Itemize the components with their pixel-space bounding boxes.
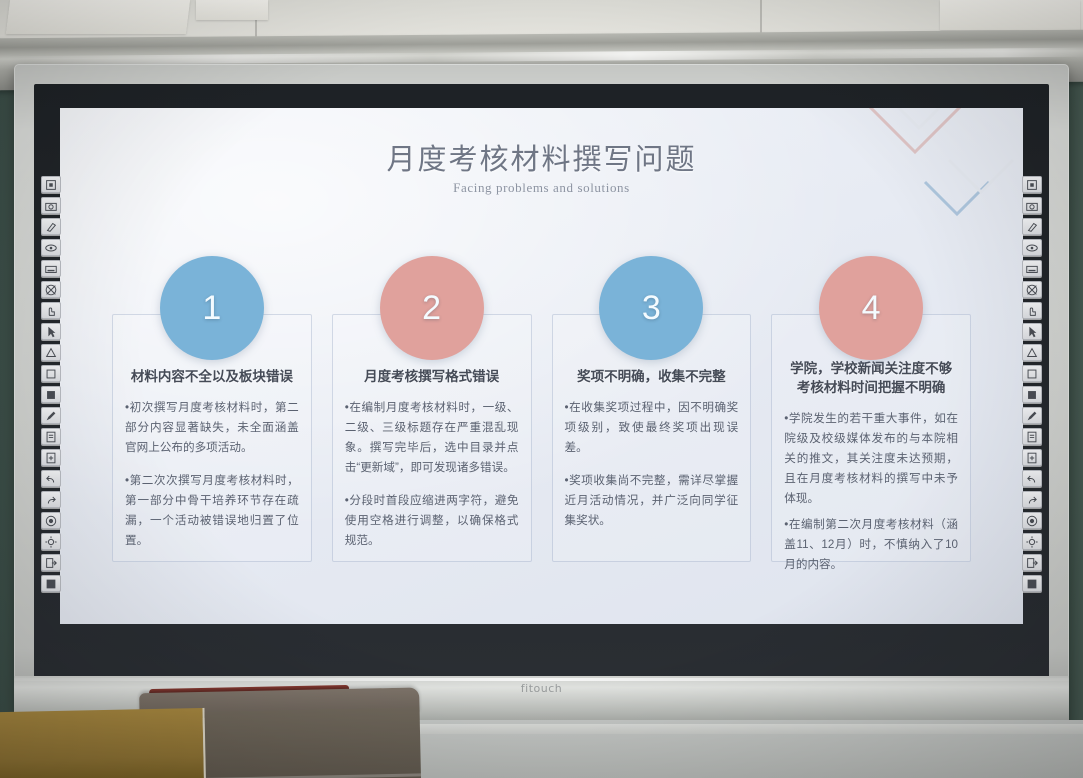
wooden-podium: [0, 682, 411, 778]
hand-pointer-icon[interactable]: [1022, 302, 1042, 319]
wall-paper-scrap: [940, 0, 1080, 30]
screenshot-icon[interactable]: [1022, 176, 1042, 193]
undo-icon[interactable]: [1022, 470, 1042, 487]
shape-square-icon[interactable]: [1022, 365, 1042, 382]
shape-fill-icon[interactable]: [41, 386, 61, 403]
camera-icon[interactable]: [1022, 197, 1042, 214]
podium-side-panel: [205, 707, 422, 778]
redo-icon[interactable]: [41, 491, 61, 508]
card-heading-1: 材料内容不全以及板块错误: [125, 367, 299, 386]
page-new-icon[interactable]: [41, 449, 61, 466]
pen-icon[interactable]: [1022, 407, 1042, 424]
bullet-item: •奖项收集尚不完整，需详尽掌握近月活动情况，并广泛向同学征集奖状。: [565, 471, 739, 531]
settings-icon[interactable]: [1022, 533, 1042, 550]
exit-icon[interactable]: [41, 554, 61, 571]
pen-icon[interactable]: [41, 407, 61, 424]
shape-triangle-icon[interactable]: [1022, 344, 1042, 361]
card-number-badge-1: 1: [160, 256, 264, 360]
classroom-scene: 月度考核材料撰写问题 Facing problems and solutions…: [0, 0, 1083, 778]
redo-icon[interactable]: [1022, 491, 1042, 508]
problem-card-3[interactable]: 3 奖项不明确，收集不完整 •在收集奖项过程中，因不明确奖项级别，致使最终奖项出…: [552, 256, 752, 562]
whiteboard-toolbar-right[interactable]: [1019, 172, 1045, 692]
record-icon[interactable]: [1022, 512, 1042, 529]
problem-card-1[interactable]: 1 材料内容不全以及板块错误 •初次撰写月度考核材料时，第二部分内容显著缺失，未…: [112, 256, 312, 562]
bullet-item: •学院发生的若干重大事件，如在院级及校级媒体发布的与本院相关的推文，其关注度未达…: [784, 409, 958, 509]
wall-paper-scrap: [6, 0, 190, 34]
shape-triangle-icon[interactable]: [41, 344, 61, 361]
eye-icon[interactable]: [1022, 239, 1042, 256]
card-heading-3: 奖项不明确，收集不完整: [565, 367, 739, 386]
card-bullets-1: •初次撰写月度考核材料时，第二部分内容显著缺失，未全面涵盖官网上公布的多项活动。…: [125, 398, 299, 551]
card-bullets-4: •学院发生的若干重大事件，如在院级及校级媒体发布的与本院相关的推文，其关注度未达…: [784, 409, 958, 575]
presentation-slide: 月度考核材料撰写问题 Facing problems and solutions…: [60, 108, 1023, 624]
device-brand-label: fitouch: [521, 682, 562, 695]
erase-all-icon[interactable]: [41, 281, 61, 298]
shape-fill-icon[interactable]: [1022, 386, 1042, 403]
record-icon[interactable]: [41, 512, 61, 529]
hand-pointer-icon[interactable]: [41, 302, 61, 319]
keyboard-icon[interactable]: [41, 260, 61, 277]
projection-surface[interactable]: 月度考核材料撰写问题 Facing problems and solutions…: [60, 108, 1023, 624]
page-icon[interactable]: [41, 428, 61, 445]
grid-icon[interactable]: [1022, 575, 1042, 592]
problem-card-4[interactable]: 4 学院，学校新闻关注度不够 考核材料时间把握不明确 •学院发生的若干重大事件，…: [771, 256, 971, 562]
highlighter-icon[interactable]: [1022, 218, 1042, 235]
card-heading-2: 月度考核撰写格式错误: [345, 367, 519, 386]
interactive-whiteboard[interactable]: 月度考核材料撰写问题 Facing problems and solutions…: [14, 64, 1069, 728]
exit-icon[interactable]: [1022, 554, 1042, 571]
card-bullets-2: •在编制月度考核材料时，一级、二级、三级标题存在严重混乱现象。撰写完毕后，选中目…: [345, 398, 519, 551]
bullet-item: •分段时首段应缩进两字符，避免使用空格进行调整，以确保格式规范。: [345, 491, 519, 551]
eye-icon[interactable]: [41, 239, 61, 256]
card-bullets-3: •在收集奖项过程中，因不明确奖项级别，致使最终奖项出现误差。 •奖项收集尚不完整…: [565, 398, 739, 531]
grid-icon[interactable]: [41, 575, 61, 592]
erase-all-icon[interactable]: [1022, 281, 1042, 298]
wall-paper-scrap: [196, 0, 268, 20]
bullet-item: •初次撰写月度考核材料时，第二部分内容显著缺失，未全面涵盖官网上公布的多项活动。: [125, 398, 299, 458]
settings-icon[interactable]: [41, 533, 61, 550]
bullet-item: •在编制月度考核材料时，一级、二级、三级标题存在严重混乱现象。撰写完毕后，选中目…: [345, 398, 519, 478]
whiteboard-bezel: 月度考核材料撰写问题 Facing problems and solutions…: [34, 84, 1049, 678]
problem-card-2[interactable]: 2 月度考核撰写格式错误 •在编制月度考核材料时，一级、二级、三级标题存在严重混…: [332, 256, 532, 562]
shape-square-icon[interactable]: [41, 365, 61, 382]
podium-front-panel: [0, 708, 206, 778]
card-row: 1 材料内容不全以及板块错误 •初次撰写月度考核材料时，第二部分内容显著缺失，未…: [112, 256, 971, 562]
card-number-badge-2: 2: [380, 256, 484, 360]
page-subtitle: Facing problems and solutions: [60, 180, 1023, 196]
cursor-icon[interactable]: [1022, 323, 1042, 340]
bullet-item: •第二次次撰写月度考核材料时，第一部分中骨干培养环节存在疏漏，一个活动被错误地归…: [125, 471, 299, 551]
cursor-icon[interactable]: [41, 323, 61, 340]
screenshot-icon[interactable]: [41, 176, 61, 193]
card-number-badge-3: 3: [599, 256, 703, 360]
bullet-item: •在编制第二次月度考核材料（涵盖11、12月）时，不慎纳入了10月的内容。: [784, 515, 958, 575]
rail-highlight: [0, 48, 1083, 66]
bullet-item: •在收集奖项过程中，因不明确奖项级别，致使最终奖项出现误差。: [565, 398, 739, 458]
page-icon[interactable]: [1022, 428, 1042, 445]
card-heading-4: 学院，学校新闻关注度不够 考核材料时间把握不明确: [784, 359, 958, 397]
undo-icon[interactable]: [41, 470, 61, 487]
tray-lip: [14, 678, 1069, 681]
page-new-icon[interactable]: [1022, 449, 1042, 466]
page-title: 月度考核材料撰写问题: [60, 136, 1023, 178]
camera-icon[interactable]: [41, 197, 61, 214]
keyboard-icon[interactable]: [1022, 260, 1042, 277]
highlighter-icon[interactable]: [41, 218, 61, 235]
whiteboard-toolbar-left[interactable]: [38, 172, 64, 692]
card-number-badge-4: 4: [819, 256, 923, 360]
